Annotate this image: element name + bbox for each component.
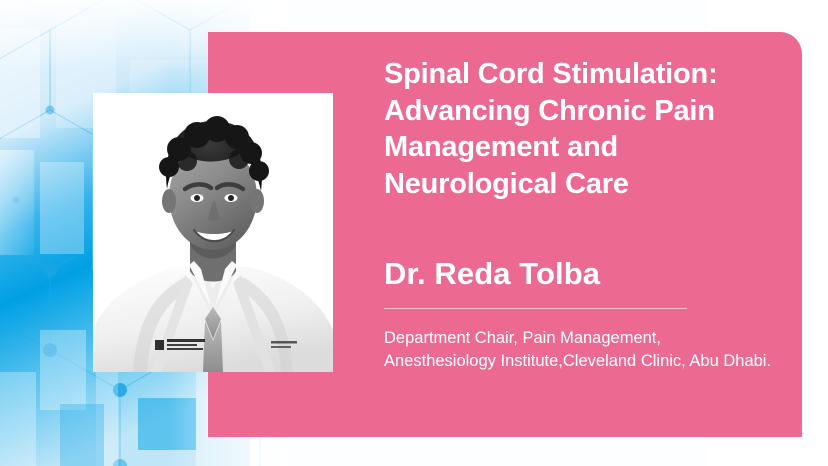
speaker-name: Dr. Reda Tolba	[384, 256, 600, 292]
presentation-slide: Spinal Cord Stimulation: Advancing Chron…	[0, 0, 828, 466]
talk-title-block: Spinal Cord Stimulation: Advancing Chron…	[384, 56, 784, 202]
page-title: Spinal Cord Stimulation: Advancing Chron…	[384, 56, 774, 202]
avatar	[93, 93, 333, 372]
divider	[384, 308, 687, 309]
speaker-role: Department Chair, Pain Management, Anest…	[384, 327, 776, 372]
speaker-portrait-frame	[93, 93, 333, 372]
